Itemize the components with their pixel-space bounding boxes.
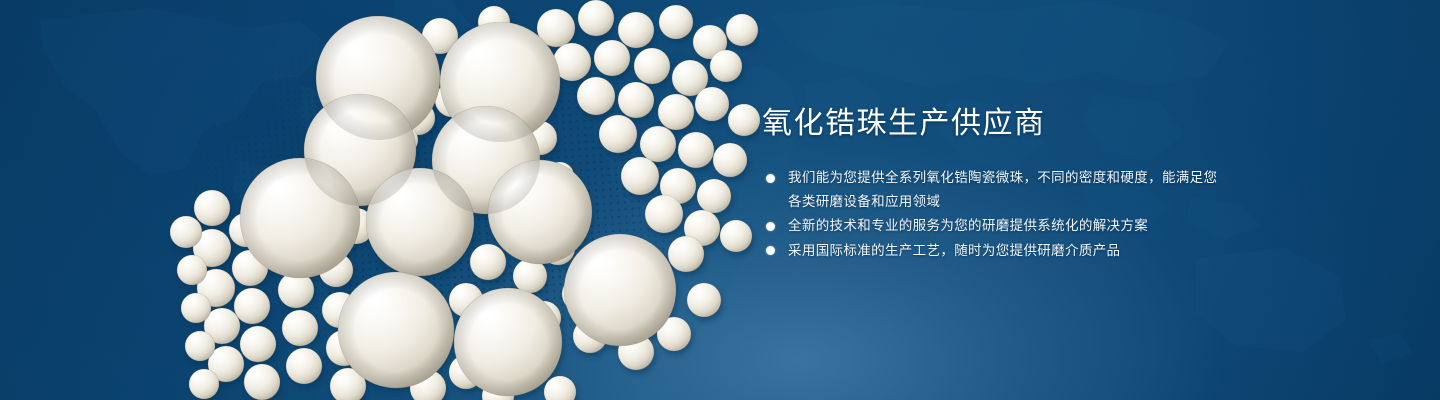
bullet-dot-icon: [766, 222, 775, 231]
bullet-item-2: 全新的技术和专业的服务为您的研磨提供系统化的解决方案: [762, 214, 1232, 238]
bullet-item-1: 我们能为您提供全系列氧化锆陶瓷微珠，不同的密度和硬度，能满足您各类研磨设备和应用…: [762, 166, 1218, 213]
bullet-item-2-text: 全新的技术和专业的服务为您的研磨提供系统化的解决方案: [788, 218, 1148, 233]
banner-copy: 氧化锆珠生产供应商 我们能为您提供全系列氧化锆陶瓷微珠，不同的密度和硬度，能满足…: [762, 104, 1232, 263]
banner-bullet-list: 我们能为您提供全系列氧化锆陶瓷微珠，不同的密度和硬度，能满足您各类研磨设备和应用…: [762, 166, 1232, 262]
bullet-dot-icon: [766, 174, 775, 183]
hero-banner: #small circle, #large circle { fill: url…: [0, 0, 1440, 400]
banner-headline: 氧化锆珠生产供应商: [762, 104, 1232, 144]
bullet-item-1-text: 我们能为您提供全系列氧化锆陶瓷微珠，不同的密度和硬度，能满足您各类研磨设备和应用…: [788, 170, 1217, 209]
bullet-item-3: 采用国际标准的生产工艺，随时为您提供研磨介质产品: [762, 239, 1232, 263]
bullet-item-3-text: 采用国际标准的生产工艺，随时为您提供研磨介质产品: [788, 243, 1120, 258]
bullet-dot-icon: [766, 246, 775, 255]
